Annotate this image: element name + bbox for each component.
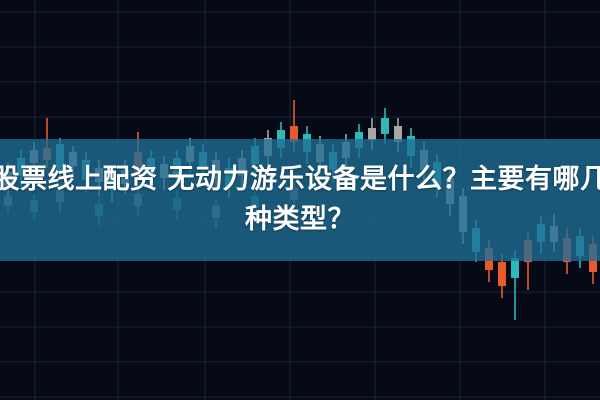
candle-body (511, 258, 519, 278)
screenshot-root: 股票线上配资 无动力游乐设备是什么？主要有哪几 种类型？ (0, 0, 600, 400)
headline-line-2: 种类型？ (245, 200, 355, 240)
candle-body (381, 118, 389, 134)
headline-overlay-band: 股票线上配资 无动力游乐设备是什么？主要有哪几 种类型？ (0, 139, 600, 261)
headline-line-1: 股票线上配资 无动力游乐设备是什么？主要有哪几 (0, 160, 600, 200)
candle-body (498, 262, 506, 286)
